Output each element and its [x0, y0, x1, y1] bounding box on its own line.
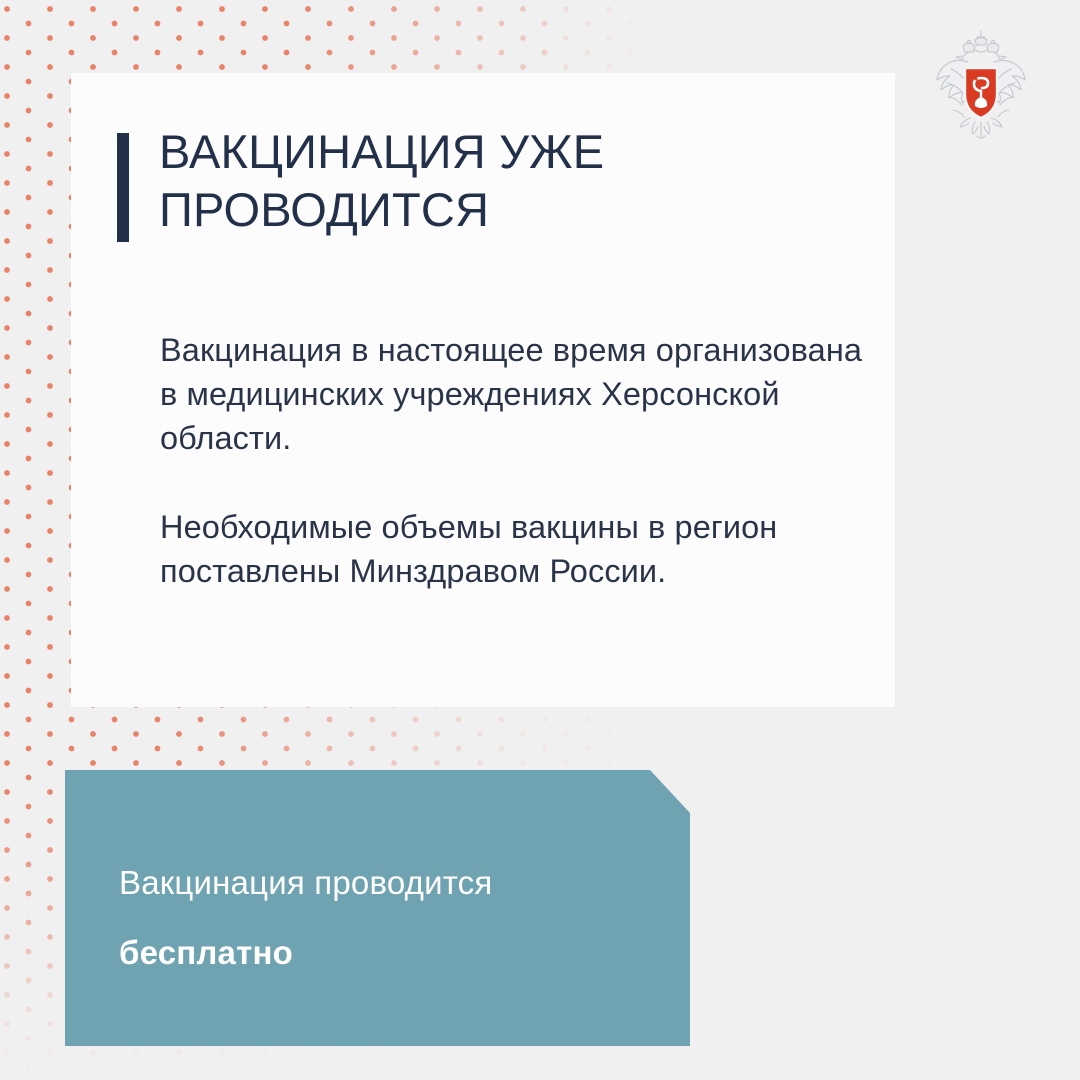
free-vaccination-banner: Вакцинация проводится бесплатно [65, 770, 690, 1046]
content-card: ВАКЦИНАЦИЯ УЖЕ ПРОВОДИТСЯ Вакцинация в н… [71, 73, 895, 707]
body-paragraph-2: Необходимые объемы вакцины в регион пост… [160, 505, 880, 593]
roszdravnadzor-emblem-icon [931, 26, 1031, 144]
body-paragraph-1: Вакцинация в настоящее время организован… [160, 328, 880, 461]
poster-canvas: ВАКЦИНАЦИЯ УЖЕ ПРОВОДИТСЯ Вакцинация в н… [0, 0, 1080, 1080]
banner-line-1: Вакцинация проводится [119, 863, 492, 903]
page-title: ВАКЦИНАЦИЯ УЖЕ ПРОВОДИТСЯ [159, 123, 859, 240]
heading-accent-bar [117, 133, 129, 242]
body-text-block: Вакцинация в настоящее время организован… [160, 328, 880, 593]
banner-line-2: бесплатно [119, 933, 293, 973]
